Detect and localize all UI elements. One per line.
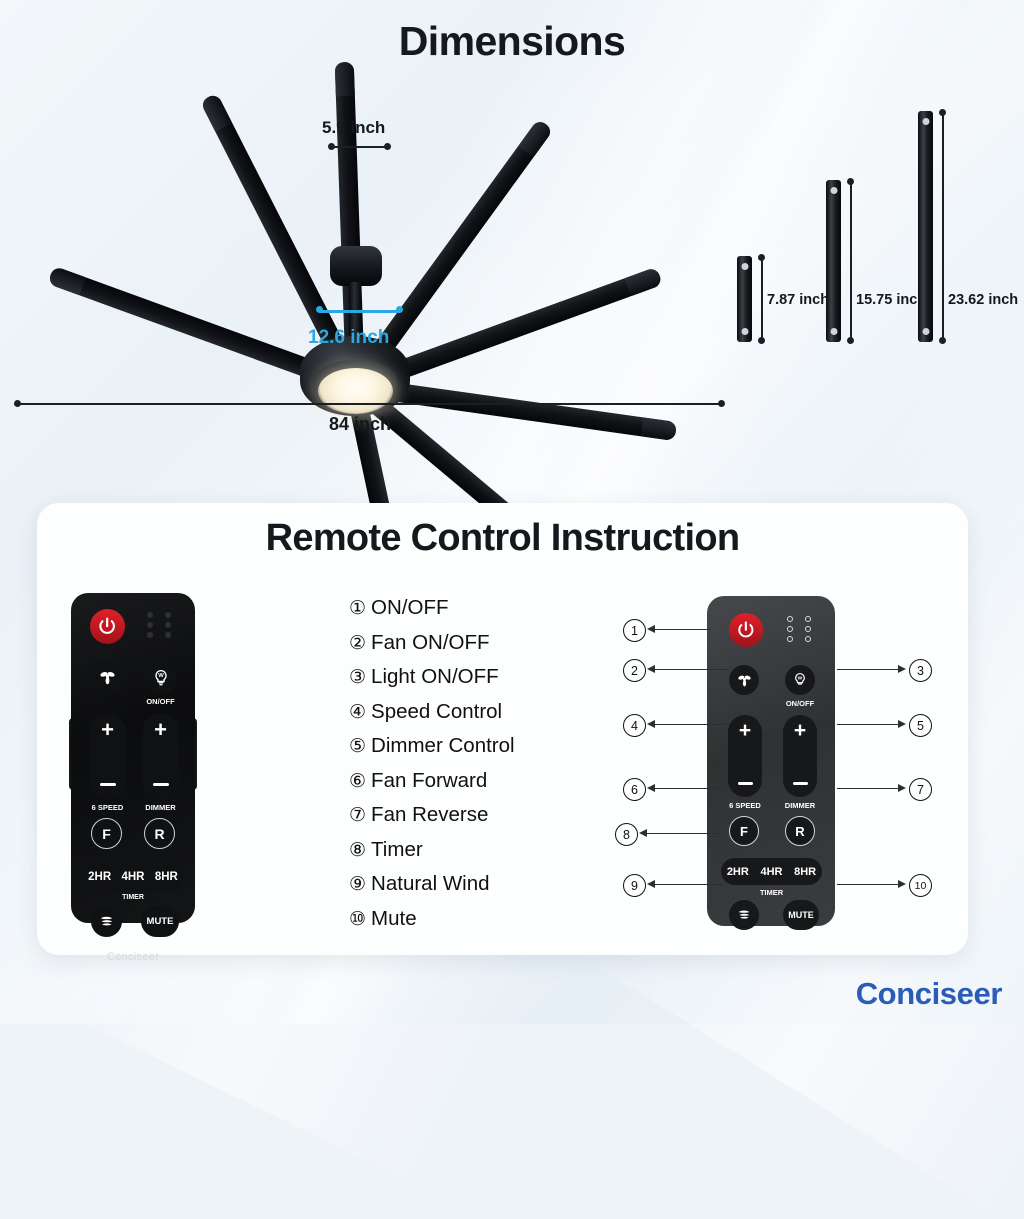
power-button[interactable]	[90, 609, 125, 644]
list-item: ③ Light ON/OFF	[349, 665, 579, 689]
callout-leader-9	[655, 884, 723, 885]
callout-arrow-1	[647, 625, 655, 633]
dimension-endpoint-dot	[396, 306, 403, 313]
dimensions-title: Dimensions	[0, 18, 1024, 65]
timer-2hr-button[interactable]: 2HR	[727, 866, 749, 878]
natural-wind-icon	[98, 913, 115, 930]
callout-10: 10	[909, 874, 932, 897]
timer-4hr-button[interactable]: 4HR	[760, 866, 782, 878]
conciseer-logo: Conciseer	[856, 976, 1002, 1012]
mute-label: MUTE	[147, 916, 174, 927]
fan-forward-button[interactable]: F	[91, 818, 122, 849]
callout-leader-7	[837, 788, 899, 789]
callout-leader-4	[655, 724, 727, 725]
timer-button-group[interactable]: 2HR 4HR 8HR	[83, 863, 183, 891]
callout-leader-3	[837, 669, 899, 670]
light-bulb-w-icon: W	[791, 671, 809, 689]
list-item: ① ON/OFF	[349, 596, 579, 620]
diagram-speed-button[interactable]: +	[728, 715, 762, 797]
light-dimension-line	[320, 310, 400, 313]
callout-arrow-2	[647, 665, 655, 673]
speed-caption: 6 SPEED	[83, 803, 132, 812]
diagram-fan-button[interactable]	[729, 665, 759, 695]
downrod-medium	[826, 180, 841, 342]
callout-arrow-8	[639, 829, 647, 837]
timer-4hr-button[interactable]: 4HR	[121, 871, 144, 883]
svg-text:W: W	[158, 673, 164, 679]
reverse-letter: R	[154, 826, 164, 842]
list-item: ⑤ Dimmer Control	[349, 734, 579, 758]
list-label: Fan Forward	[371, 769, 487, 793]
remote-section-title: Remote Control Instruction	[37, 517, 968, 560]
callout-leader-6	[655, 788, 723, 789]
diagram-timer-caption: TIMER	[721, 888, 822, 897]
reverse-letter: R	[795, 824, 804, 839]
blade-span-dimension-line	[18, 403, 720, 405]
callout-leader-1	[655, 629, 711, 630]
diagram-dimmer-caption: DIMMER	[776, 801, 824, 810]
led-light-kit	[318, 368, 393, 414]
callout-7: 7	[909, 778, 932, 801]
remote-brand-label: Conciseer	[71, 951, 195, 963]
speed-plus-icon[interactable]: +	[739, 723, 751, 738]
downrod-short-dimension-line	[761, 258, 763, 340]
dimension-endpoint-dot	[847, 337, 854, 344]
diagram-timer-group[interactable]: 2HR 4HR 8HR	[721, 858, 822, 885]
list-number: ④	[349, 703, 366, 722]
list-label: Dimmer Control	[371, 734, 515, 758]
downrod-short-label: 7.87 inch	[767, 292, 829, 308]
dimension-endpoint-dot	[758, 337, 765, 344]
diagram-ir-dots	[787, 616, 811, 642]
list-label: Fan ON/OFF	[371, 631, 489, 655]
light-bulb-w-icon: W	[151, 668, 171, 688]
list-number: ⑥	[349, 772, 366, 791]
diagram-power-button[interactable]	[729, 613, 763, 647]
forward-letter: F	[740, 824, 748, 839]
callout-5: 5	[909, 714, 932, 737]
diagram-mute-button[interactable]: MUTE	[783, 900, 819, 930]
blade-span-label: 84 inch	[0, 414, 720, 435]
list-number: ⑧	[349, 841, 366, 860]
speed-minus-icon[interactable]	[100, 783, 116, 786]
ir-indicator-dots	[147, 612, 171, 638]
callout-leader-2	[655, 669, 729, 670]
dimension-endpoint-dot	[328, 143, 335, 150]
timer-2hr-button[interactable]: 2HR	[88, 871, 111, 883]
ceiling-canopy	[330, 246, 382, 286]
dimension-endpoint-dot	[939, 337, 946, 344]
infographic-page: Dimensions 5.9 inch 12.6 inch 84 inch 7.…	[0, 0, 1024, 1024]
downrod-medium-label: 15.75 inch	[856, 292, 926, 308]
downrod-long	[918, 111, 933, 342]
list-item: ④ Speed Control	[349, 700, 579, 724]
timer-8hr-button[interactable]: 8HR	[155, 871, 178, 883]
diagram-light-button[interactable]: W	[785, 665, 815, 695]
timer-8hr-button[interactable]: 8HR	[794, 866, 816, 878]
callout-arrow-4	[647, 720, 655, 728]
natural-wind-button[interactable]	[91, 906, 122, 937]
callout-6: 6	[623, 778, 646, 801]
list-label: ON/OFF	[371, 596, 448, 620]
fan-blades-icon	[98, 668, 117, 687]
callout-leader-10	[837, 884, 899, 885]
list-number: ①	[349, 599, 366, 618]
list-label: Speed Control	[371, 700, 502, 724]
downrod-long-label: 23.62 inch	[948, 292, 1018, 308]
light-onoff-button[interactable]: W	[144, 661, 177, 694]
callout-2: 2	[623, 659, 646, 682]
callout-8: 8	[615, 823, 638, 846]
diagram-light-caption: ON/OFF	[785, 699, 815, 708]
list-label: Natural Wind	[371, 872, 490, 896]
callout-4: 4	[623, 714, 646, 737]
fan-onoff-button[interactable]	[91, 661, 124, 694]
forward-letter: F	[102, 826, 111, 842]
fan-reverse-button[interactable]: R	[144, 818, 175, 849]
callout-leader-5	[837, 724, 899, 725]
dimmer-caption: DIMMER	[136, 803, 185, 812]
dimension-endpoint-dot	[847, 178, 854, 185]
list-number: ⑦	[349, 806, 366, 825]
callout-arrow-7	[898, 784, 906, 792]
downrod-long-dimension-line	[942, 113, 944, 340]
diagram-speed-caption: 6 SPEED	[721, 801, 769, 810]
canopy-width-label: 5.9 inch	[322, 118, 385, 138]
downrod-short	[737, 256, 752, 342]
dimmer-minus-icon[interactable]	[153, 783, 169, 786]
callout-9: 9	[623, 874, 646, 897]
list-item: ⑥ Fan Forward	[349, 769, 579, 793]
list-number: ⑨	[349, 875, 366, 894]
list-number: ⑤	[349, 737, 366, 756]
list-item: ⑧ Timer	[349, 838, 579, 862]
callout-arrow-6	[647, 784, 655, 792]
list-number: ③	[349, 668, 366, 687]
power-icon	[736, 620, 756, 640]
speed-minus-icon[interactable]	[738, 782, 753, 785]
callout-arrow-10	[898, 880, 906, 888]
dimension-endpoint-dot	[384, 143, 391, 150]
remote-control-diagram: W ON/OFF + 6 SPEED + DIMMER F R 2HR	[707, 596, 835, 926]
mute-button[interactable]: MUTE	[141, 906, 179, 937]
diagram-natural-wind-button[interactable]	[729, 900, 759, 930]
downrod-medium-dimension-line	[850, 182, 852, 340]
list-item: ② Fan ON/OFF	[349, 631, 579, 655]
dimension-endpoint-dot	[939, 109, 946, 116]
dimmer-plus-icon[interactable]: +	[794, 723, 806, 738]
callout-3: 3	[909, 659, 932, 682]
dimension-endpoint-dot	[718, 400, 725, 407]
svg-text:W: W	[798, 675, 803, 681]
ceiling-fan-illustration	[0, 96, 730, 406]
light-diameter-label: 12.6 inch	[308, 327, 389, 349]
dimmer-minus-icon[interactable]	[793, 782, 808, 785]
list-number: ②	[349, 634, 366, 653]
dimmer-control-button[interactable]: +	[142, 713, 179, 799]
callout-leader-8	[647, 833, 721, 834]
list-label: Timer	[371, 838, 423, 862]
list-label: Mute	[371, 907, 417, 931]
list-label: Fan Reverse	[371, 803, 488, 827]
list-label: Light ON/OFF	[371, 665, 499, 689]
dimension-endpoint-dot	[758, 254, 765, 261]
callout-arrow-3	[898, 665, 906, 673]
mute-label: MUTE	[788, 910, 814, 920]
diagram-reverse-button[interactable]: R	[785, 816, 815, 846]
callout-arrow-9	[647, 880, 655, 888]
dimension-endpoint-dot	[14, 400, 21, 407]
dimension-endpoint-dot	[316, 306, 323, 313]
remote-instruction-card: Remote Control Instruction ① ON/OFF ② Fa…	[37, 503, 968, 955]
natural-wind-icon	[736, 907, 752, 923]
list-item: ⑦ Fan Reverse	[349, 803, 579, 827]
list-number: ⑩	[349, 910, 366, 929]
diagram-dimmer-button[interactable]: +	[783, 715, 817, 797]
fan-blades-icon	[736, 672, 753, 689]
light-onoff-caption: ON/OFF	[144, 697, 177, 706]
power-icon	[97, 616, 117, 636]
speed-plus-icon[interactable]: +	[101, 722, 114, 738]
diagram-forward-button[interactable]: F	[729, 816, 759, 846]
list-item: ⑩ Mute	[349, 907, 579, 931]
canopy-dimension-line	[331, 146, 387, 148]
callout-1: 1	[623, 619, 646, 642]
dimmer-plus-icon[interactable]: +	[154, 722, 167, 738]
function-list: ① ON/OFF ② Fan ON/OFF ③ Light ON/OFF ④ S…	[349, 596, 579, 941]
timer-caption: TIMER	[83, 894, 183, 901]
list-item: ⑨ Natural Wind	[349, 872, 579, 896]
speed-control-button[interactable]: +	[89, 713, 126, 799]
remote-control-photo: W ON/OFF + 6 SPEED + DIMMER F R 2HR	[71, 593, 195, 923]
callout-arrow-5	[898, 720, 906, 728]
